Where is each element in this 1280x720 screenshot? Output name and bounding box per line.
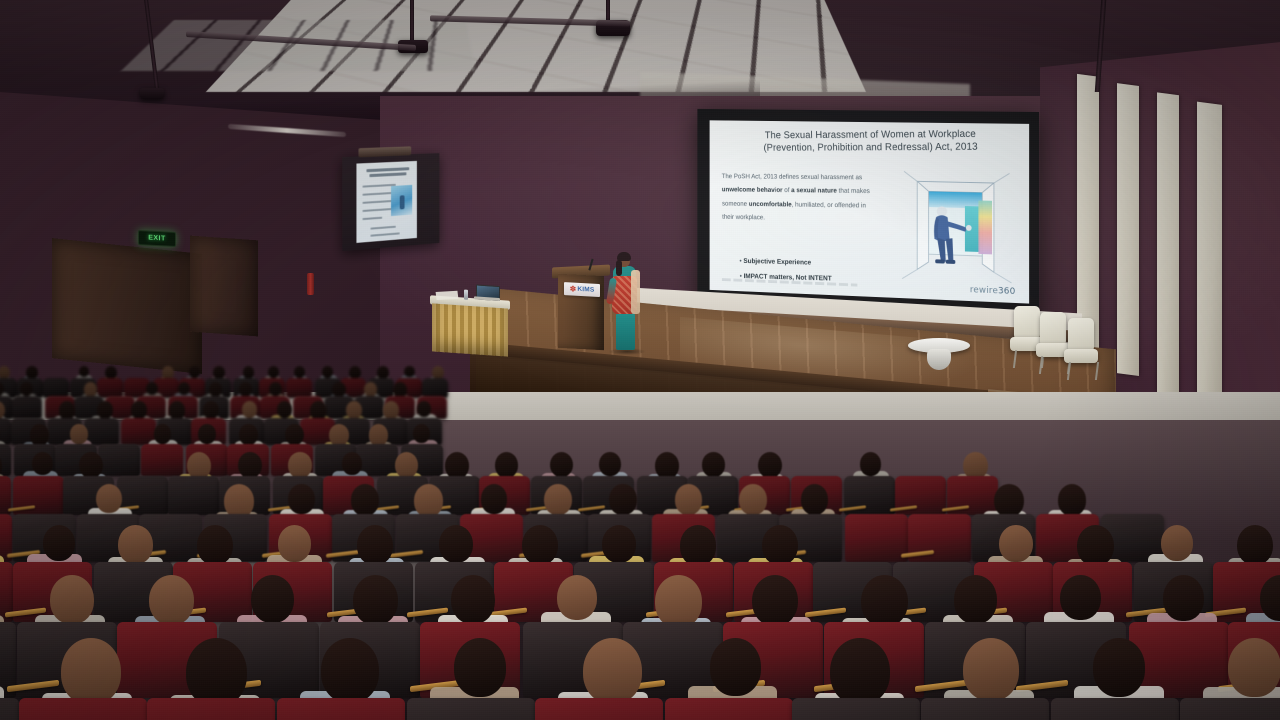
audience-head [609,484,637,515]
auditorium-seat[interactable] [665,698,793,720]
audience-head [655,575,702,628]
slide-illustration [895,167,1018,285]
audience-head [97,401,113,418]
audience-head [146,382,158,396]
audience-head [162,366,174,379]
av-table-papers [436,291,459,300]
exit-sign-label: EXIT [148,235,166,243]
audience-head [61,638,120,705]
auditorium-seat[interactable] [1180,698,1280,720]
auditorium-seat[interactable] [141,444,183,476]
audience-head [963,638,1019,700]
slide-brand-name: rewire [970,285,998,296]
slide-title: The Sexual Harassment of Women at Workpl… [729,129,1016,155]
audience-head [154,424,171,443]
secondary-slide-text-5 [362,217,382,220]
audience-head [70,424,88,444]
audience-head [758,452,782,479]
audience-head [187,452,211,479]
audience-head [860,452,881,476]
audience-head [364,382,378,397]
audience-head [149,575,194,625]
audience-head [131,401,147,418]
audience-head [801,484,828,515]
audience-head [999,525,1032,562]
audience-head [79,452,103,478]
secondary-projection-screen [342,153,439,251]
audience-head [675,484,702,514]
audience-head [30,424,50,446]
auditorium-seat[interactable] [845,514,908,562]
speaker-hair-side [616,260,622,276]
audience-head [105,366,117,379]
water-bottle [464,290,468,300]
audience-head [186,638,247,706]
slide-brand-suffix: 360 [998,286,1015,297]
audience-head [655,452,679,479]
main-projection-screen: The Sexual Harassment of Women at Workpl… [697,109,1039,320]
audience-head [224,484,254,518]
secondary-slide-bullet-1 [370,226,395,230]
audience-head [762,525,798,565]
auditorium-seat[interactable] [1051,698,1179,720]
secondary-slide [356,161,416,243]
audience-head [169,401,185,419]
auditorium-seat[interactable] [43,378,69,398]
audience-head [84,382,97,397]
audience-head [203,401,219,419]
audience-head [198,424,216,444]
audience-head [680,525,717,566]
auditorium-seat[interactable] [0,698,19,720]
presentation-slide: The Sexual Harassment of Women at Workpl… [710,120,1030,303]
audience-head [329,424,349,446]
audience-head [285,424,304,445]
audience-head [583,638,642,704]
auditorium-seat[interactable] [97,378,123,398]
audience-head [522,525,558,566]
audience-head [1058,484,1086,515]
audience-seating [0,300,1280,720]
auditorium-seat[interactable] [19,698,147,720]
audience-head [251,575,294,623]
podium-logo-label: KIMS [577,286,594,294]
audience-head [702,452,724,477]
podium-logo-plate: ✽ KIMS [564,282,600,297]
audience-head [710,638,762,696]
audience-head [544,484,572,515]
auditorium-seat[interactable] [286,378,312,398]
audience-head [377,366,389,379]
audience-head [830,638,890,705]
audience-head [79,366,90,378]
audience-head [395,452,418,478]
secondary-slide-figure [400,195,405,209]
audience-head [342,452,363,475]
secondary-slide-text-3 [362,200,392,204]
audience-head [1237,525,1273,565]
audience-head [369,424,388,445]
audience-head [239,424,258,445]
auditorium-seat[interactable] [98,444,140,476]
audience-head [178,382,190,395]
audience-head [243,366,255,379]
audience-head [209,382,222,397]
auditorium-seat[interactable] [792,698,920,720]
audience-head [599,452,620,476]
ceiling-mount-pole-mid [410,0,414,44]
secondary-slide-title-line2 [369,172,406,176]
audience-head [404,366,414,378]
auditorium-seat[interactable] [147,698,275,720]
audience-head [557,575,597,620]
audience-head [278,525,311,562]
audience-head [1060,575,1100,620]
exit-sign: EXIT [138,230,176,247]
audience-head [1077,525,1114,566]
audience-head [417,401,431,417]
audience-head [1161,525,1193,561]
kims-emblem-icon: ✽ [570,285,577,293]
audience-head [346,401,362,419]
audience-head [349,366,361,379]
audience-head [752,575,798,626]
auditorium-seat[interactable] [422,378,448,398]
audience-head [294,366,305,379]
audience-head [550,452,573,478]
slide-brand-logo: rewire360 [970,285,1016,297]
audience-head [602,525,636,563]
audience-head [481,484,507,513]
secondary-slide-title-line1 [366,167,409,172]
audience-head [451,575,495,624]
audience-head [213,366,225,379]
audience-head [1093,638,1145,696]
audience-head [383,401,399,419]
slide-body-text: The PoSH Act, 2013 defines sexual harass… [722,171,877,228]
auditorium-photo: EXIT The Sexual Harassment of Women at W… [0,0,1280,720]
audience-head [43,525,75,561]
audience-head [96,484,122,513]
audience-head [288,452,311,478]
auditorium-seat[interactable] [12,396,42,419]
audience-head [439,525,473,564]
audience-head [277,401,292,418]
auditorium-seat[interactable] [168,476,219,515]
audience-head [189,366,200,379]
audience-head [454,638,506,697]
slide-title-line2: (Prevention, Prohibition and Redressal) … [729,141,1016,155]
audience-head [414,484,443,516]
audience-head [351,484,379,516]
audience-head [269,382,282,396]
audience-head [332,382,346,397]
audience-head [322,366,333,378]
audience-head [413,424,430,443]
auditorium-seat[interactable] [921,698,1049,720]
audience-head [238,452,262,478]
doorway-illustration-svg [895,167,1018,285]
secondary-screen-mount [358,146,411,157]
audience-head [495,452,518,478]
audience-head [739,484,767,515]
audience-head [1228,638,1280,697]
fire-extinguisher [307,273,314,295]
audience-head [861,575,908,628]
audience-head [310,401,327,420]
audience-head [59,401,75,419]
auditorium-seat[interactable] [277,698,405,720]
audience-head [1163,575,1204,621]
auditorium-seat[interactable] [535,698,663,720]
audience-head [32,452,53,475]
audience-head [197,525,233,565]
audience-head [26,366,38,379]
audience-head [118,525,153,564]
secondary-slide-bullet-2 [370,232,399,236]
audience-head [357,525,393,565]
audience-head [994,484,1024,517]
audience-head [321,638,378,702]
auditorium-seat[interactable] [407,698,535,720]
audience-head [239,382,252,397]
projector-left [140,88,164,99]
audience-head [288,484,314,514]
audience-head [353,575,398,625]
audience-head [50,575,93,624]
audience-head [445,452,469,479]
slide-title-line1: The Sexual Harassment of Women at Workpl… [765,129,976,141]
audience-head [954,575,998,624]
audience-head [242,401,257,418]
